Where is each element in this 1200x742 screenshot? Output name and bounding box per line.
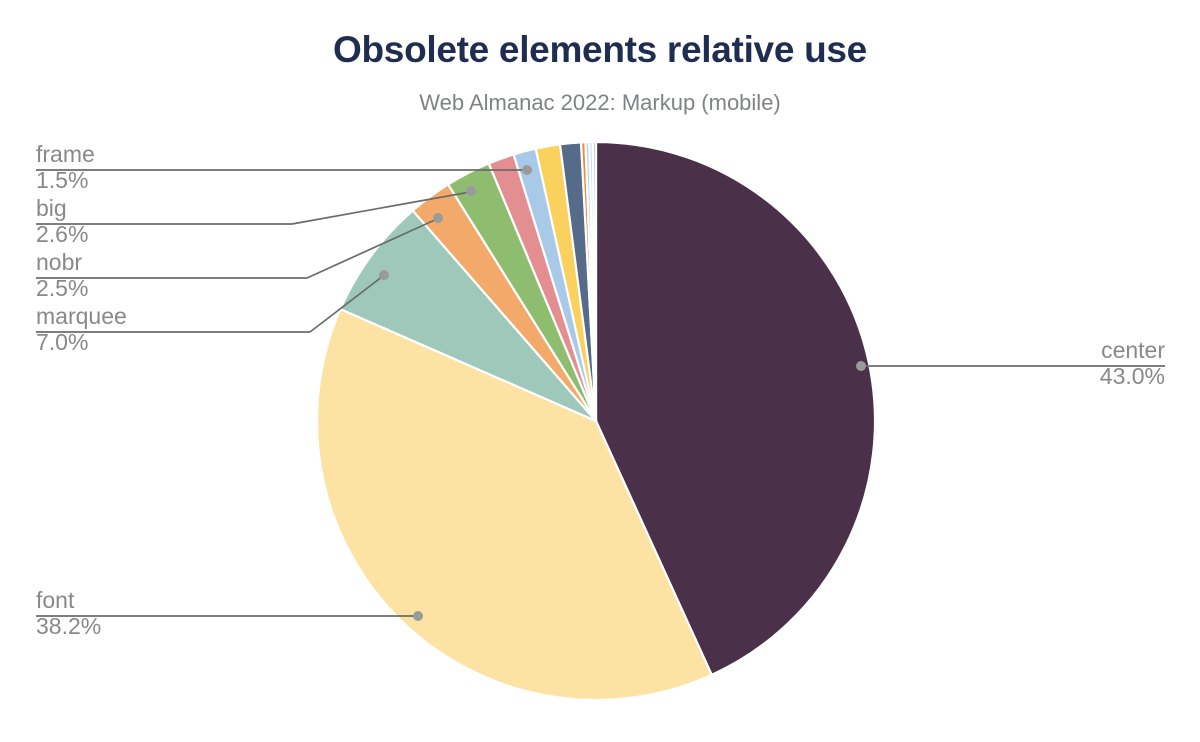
slice-label-name-big: big [36,195,67,221]
slice-label-value-center: 43.0% [1100,363,1165,389]
leader-dot-frame [522,165,532,175]
slice-label-value-frame: 1.5% [36,167,88,193]
slice-label-name-marquee: marquee [36,303,127,329]
pie-chart-plot: center43.0%font38.2%marquee7.0%nobr2.5%b… [0,0,1200,742]
leader-dot-center [856,361,866,371]
leader-dot-nobr [433,213,443,223]
slice-label-name-nobr: nobr [36,249,82,275]
slice-label-name-frame: frame [36,141,95,167]
leader-dot-big [466,186,476,196]
leader-dot-font [413,611,423,621]
slice-label-name-center: center [1101,337,1165,363]
leader-dot-marquee [379,270,389,280]
slice-label-value-nobr: 2.5% [36,275,88,301]
slice-label-name-font: font [36,587,75,613]
slice-label-value-big: 2.6% [36,221,88,247]
chart-page: Obsolete elements relative use Web Alman… [0,0,1200,742]
slice-label-value-marquee: 7.0% [36,329,88,355]
slice-label-value-font: 38.2% [36,613,101,639]
